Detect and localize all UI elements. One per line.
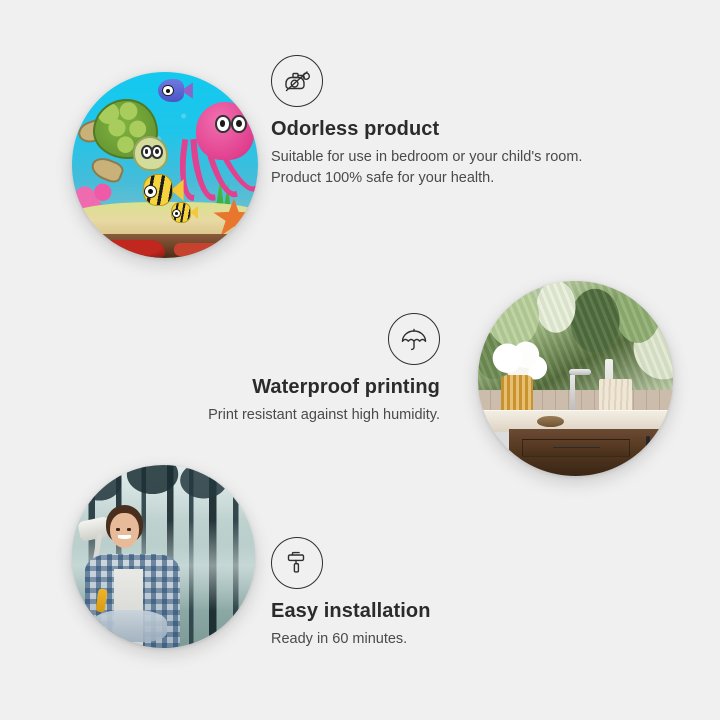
yellow-fish-small — [169, 202, 199, 222]
feature-odorless: Odorless product Suitable for use in bed… — [271, 55, 601, 189]
odorless-icon-row — [271, 55, 601, 107]
yellow-fish-small-tail — [190, 205, 198, 219]
woman-eye-left — [116, 528, 120, 530]
waterproof-icon-row — [120, 313, 440, 365]
octopus-eye-left — [215, 115, 231, 133]
chrome-faucet — [570, 375, 575, 414]
cabinet-handle — [646, 436, 650, 460]
feature-collage: Odorless product Suitable for use in bed… — [0, 0, 720, 720]
feature-odorless-title: Odorless product — [271, 117, 601, 141]
ocean-scene — [72, 72, 258, 258]
room-furniture-foreground — [72, 234, 258, 258]
folded-arms — [92, 610, 168, 642]
octopus-eye-right — [231, 115, 247, 133]
bathroom-tropical-wallpaper-photo — [478, 281, 673, 476]
feature-install-description: Ready in 60 minutes. — [271, 629, 591, 650]
yellow-fish-eye — [144, 185, 157, 198]
feature-easy-installation: Easy installation Ready in 60 minutes. — [271, 537, 591, 650]
woman-eye-right — [127, 528, 131, 530]
bathroom-scene — [478, 281, 673, 476]
woman-paint-roller-forest-photo — [72, 465, 255, 648]
wooden-soap-dish — [537, 416, 564, 428]
feature-waterproof-title: Waterproof printing — [120, 375, 440, 399]
blue-fish-eye — [162, 85, 173, 96]
woman-figure — [79, 502, 181, 648]
woman-face — [110, 513, 139, 548]
feature-odorless-description: Suitable for use in bedroom or your chil… — [271, 147, 601, 189]
umbrella-icon — [388, 313, 440, 365]
wood-vanity-cabinet — [509, 429, 673, 476]
feature-install-title: Easy installation — [271, 599, 591, 623]
no-odor-perfume-bottle-icon — [271, 55, 323, 107]
feature-waterproof: Waterproof printing Print resistant agai… — [120, 313, 440, 426]
feature-waterproof-description: Print resistant against high humidity. — [120, 405, 440, 426]
paint-roller-icon — [271, 537, 323, 589]
turtle-head — [133, 136, 168, 171]
vanity-drawer — [522, 439, 630, 457]
turtle-eye-right — [151, 145, 163, 160]
yellow-fish-tail — [171, 179, 183, 200]
underwater-cartoon-mural-photo — [72, 72, 258, 258]
install-icon-row — [271, 537, 591, 589]
forest-scene — [72, 465, 255, 648]
sea-turtle — [83, 94, 165, 172]
pink-octopus — [176, 102, 254, 206]
octopus-head — [196, 102, 254, 160]
yellow-fish-large — [139, 174, 184, 206]
blue-fish — [158, 79, 193, 101]
